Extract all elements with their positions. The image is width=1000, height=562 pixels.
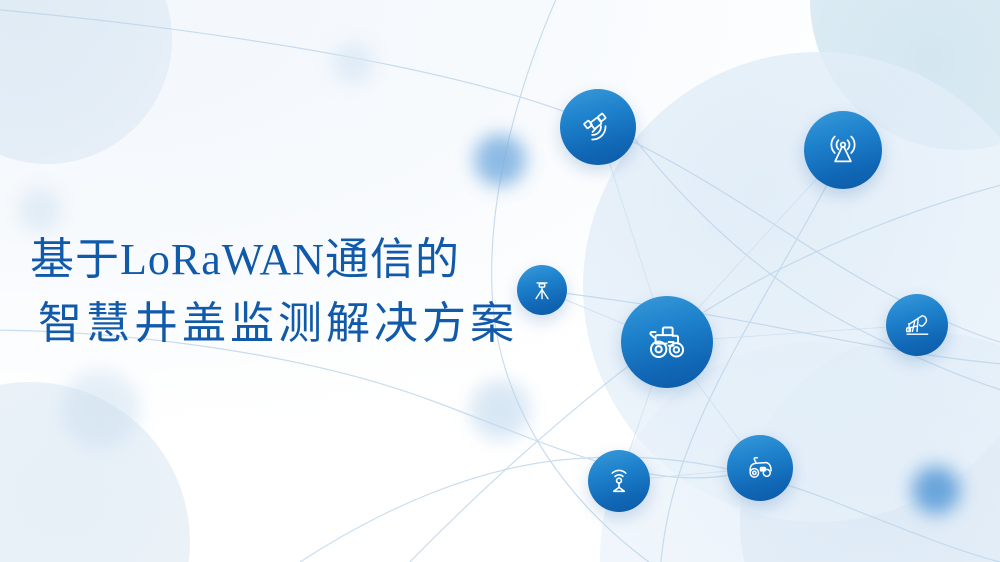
slide-title-block: 基于LoRaWAN通信的 智慧井盖监测解决方案 <box>30 228 550 356</box>
node-oil-pumpjack[interactable] <box>886 294 948 356</box>
oil-pumpjack-icon <box>900 308 934 342</box>
slide-canvas: 基于LoRaWAN通信的 智慧井盖监测解决方案 <box>0 0 1000 562</box>
node-radio-tower[interactable] <box>804 111 882 189</box>
satellite-signal-icon <box>578 107 618 147</box>
node-tractor[interactable] <box>621 296 713 388</box>
node-satellite[interactable] <box>560 89 636 165</box>
node-wireless-sensor[interactable] <box>588 450 650 512</box>
slide-title-line-1: 基于LoRaWAN通信的 <box>30 228 550 292</box>
tractor-icon <box>642 317 692 367</box>
slide-title-line-2: 智慧井盖监测解决方案 <box>38 292 550 356</box>
radio-tower-icon <box>822 129 864 171</box>
wireless-sensor-icon <box>602 464 636 498</box>
node-robot-mower[interactable] <box>727 435 793 501</box>
robot-mower-icon <box>742 450 778 486</box>
